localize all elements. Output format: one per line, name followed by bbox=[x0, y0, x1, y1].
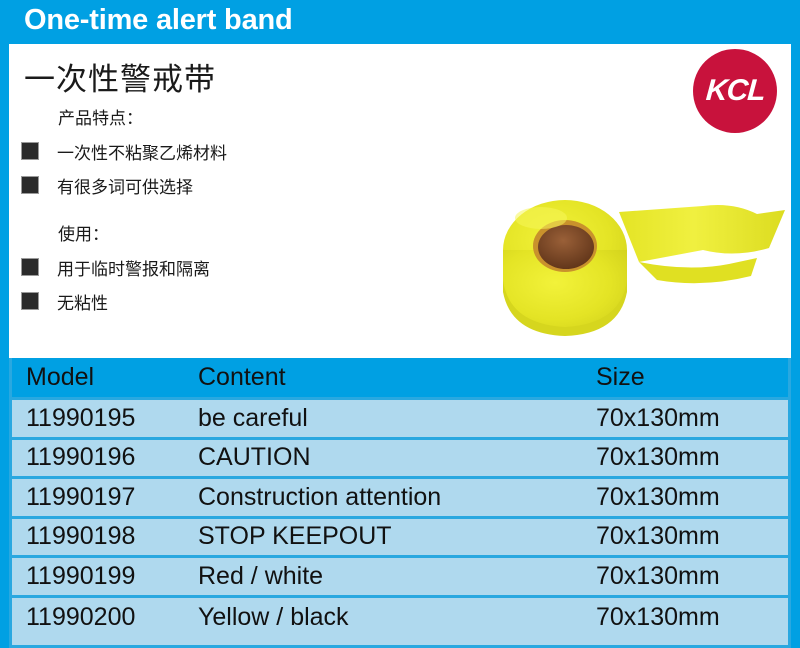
product-datasheet: One-time alert band 一次性警戒带 KCL bbox=[0, 0, 800, 648]
specification-table: Model Content Size 11990195 be careful 7… bbox=[9, 358, 791, 648]
feature-list: 产品特点： 一次性不粘聚乙烯材料 有很多词可供选择 使用： 用于临时警报和隔离 … bbox=[9, 104, 439, 318]
cell-model: 11990197 bbox=[12, 483, 198, 512]
square-bullet-icon bbox=[21, 258, 39, 276]
right-border-rail bbox=[791, 0, 800, 648]
product-photo bbox=[489, 184, 789, 349]
cell-content: CAUTION bbox=[198, 443, 596, 472]
cell-model: 11990198 bbox=[12, 522, 198, 551]
cell-size: 70x130mm bbox=[596, 562, 788, 591]
table-row: 11990199 Red / white 70x130mm bbox=[12, 558, 788, 598]
content-area: 一次性警戒带 KCL bbox=[9, 44, 791, 358]
cell-size: 70x130mm bbox=[596, 603, 788, 632]
square-bullet-icon bbox=[21, 142, 39, 160]
square-bullet-icon bbox=[21, 176, 39, 194]
feature-item-label: 有很多词可供选择 bbox=[57, 173, 193, 198]
features-heading-2: 使用： bbox=[58, 220, 439, 250]
cell-model: 11990199 bbox=[12, 562, 198, 591]
feature-item: 一次性不粘聚乙烯材料 bbox=[9, 134, 439, 168]
feature-item-label: 用于临时警报和隔离 bbox=[57, 255, 210, 280]
cell-size: 70x130mm bbox=[596, 483, 788, 512]
table-row: 11990200 Yellow / black 70x130mm bbox=[12, 598, 788, 638]
cell-content: STOP KEEPOUT bbox=[198, 522, 596, 551]
table-row: 11990195 be careful 70x130mm bbox=[12, 400, 788, 440]
cell-size: 70x130mm bbox=[596, 443, 788, 472]
tape-roll-illustration bbox=[489, 184, 789, 349]
cell-content: Red / white bbox=[198, 562, 596, 591]
page-subtitle: 一次性警戒带 bbox=[24, 54, 216, 99]
column-header-size: Size bbox=[596, 363, 788, 392]
cell-model: 11990200 bbox=[12, 603, 198, 632]
cell-content: Yellow / black bbox=[198, 603, 596, 632]
features-heading-1: 产品特点： bbox=[58, 104, 439, 134]
kcl-logo: KCL bbox=[693, 49, 777, 133]
cell-content: Construction attention bbox=[198, 483, 596, 512]
column-header-content: Content bbox=[198, 363, 596, 392]
feature-item: 用于临时警报和隔离 bbox=[9, 250, 439, 284]
square-bullet-icon bbox=[21, 292, 39, 310]
table-row: 11990197 Construction attention 70x130mm bbox=[12, 479, 788, 519]
column-header-model: Model bbox=[12, 363, 198, 392]
feature-item: 有很多词可供选择 bbox=[9, 168, 439, 202]
table-row: 11990198 STOP KEEPOUT 70x130mm bbox=[12, 519, 788, 559]
left-border-rail bbox=[0, 0, 9, 648]
cell-model: 11990195 bbox=[12, 404, 198, 433]
page-title: One-time alert band bbox=[24, 4, 293, 37]
feature-item-label: 一次性不粘聚乙烯材料 bbox=[57, 139, 227, 164]
table-row: 11990196 CAUTION 70x130mm bbox=[12, 440, 788, 480]
cell-content: be careful bbox=[198, 404, 596, 433]
table-header-row: Model Content Size bbox=[12, 358, 788, 400]
feature-item: 无粘性 bbox=[9, 284, 439, 318]
kcl-logo-text: KCL bbox=[704, 74, 765, 108]
cell-model: 11990196 bbox=[12, 443, 198, 472]
cell-size: 70x130mm bbox=[596, 404, 788, 433]
feature-item-label: 无粘性 bbox=[57, 289, 108, 314]
cell-size: 70x130mm bbox=[596, 522, 788, 551]
